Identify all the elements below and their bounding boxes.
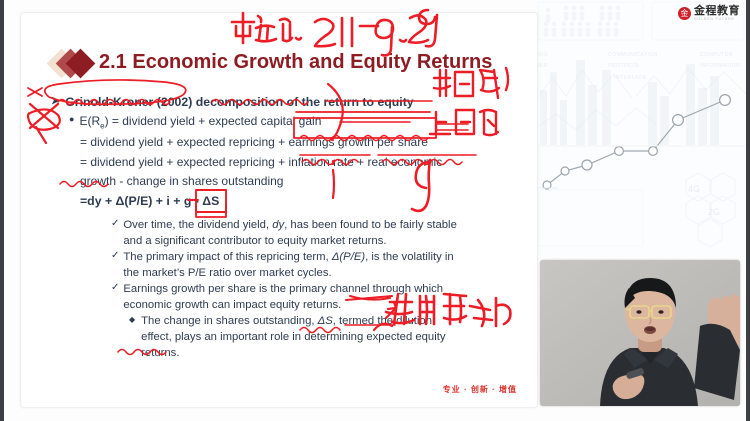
disc-bullet-icon: ●	[69, 112, 74, 127]
equation-bold: =dy + Δ(P/E) + i + g - ΔS	[80, 192, 521, 212]
bullet-level1-text: Grinold-Kroner (2002) decomposition of t…	[65, 95, 413, 109]
svg-text:2G: 2G	[708, 207, 720, 217]
check-item: ✓ The primary impact of this repricing t…	[111, 249, 521, 281]
page-title: 2.1 Economic Growth and Equity Returns	[99, 51, 492, 74]
logo-name: 金程教育	[694, 6, 740, 17]
instructor-video[interactable]	[540, 260, 740, 406]
logo-subtitle: GOLDEN FUTURE	[694, 18, 740, 21]
sub-diamond-item: ◆ The change in shares outstanding, ΔS, …	[129, 313, 521, 361]
svg-text:INTERFACE: INTERFACE	[614, 75, 647, 81]
brand-logo: 金 金程教育 GOLDEN FUTURE	[678, 6, 740, 21]
decorative-chart-panel: 4G 2G RESBER COMMUNICATION PROTOCOL INTE…	[536, 0, 746, 256]
check-item: ✓ Earnings growth per share is the prima…	[111, 281, 521, 313]
bullet-level1: ➤ Grinold-Kroner (2002) decomposition of…	[51, 95, 521, 109]
check-icon: ✓	[111, 217, 119, 231]
bullet-level2-text: E(Re) = dividend yield + expected capita…	[79, 112, 321, 133]
sub-diamond-text: The change in shares outstanding, ΔS, te…	[141, 313, 445, 361]
logo-mark-icon: 金	[678, 7, 691, 20]
svg-text:PROTOCOL: PROTOCOL	[608, 63, 640, 69]
diamond-bullet-icon: ◆	[129, 313, 135, 327]
bullet-level2: ● E(Re) = dividend yield + expected capi…	[69, 112, 521, 133]
svg-text:INFORMATION: INFORMATION	[700, 63, 740, 69]
check-item: ✓ Over time, the dividend yield, dy, has…	[111, 217, 521, 249]
slide-body: ➤ Grinold-Kroner (2002) decomposition of…	[51, 95, 521, 361]
window-right-edge	[746, 0, 750, 421]
screen-viewport: 4G 2G RESBER COMMUNICATION PROTOCOL INTE…	[0, 0, 750, 421]
arrow-bullet-icon: ➤	[51, 95, 60, 108]
equation-line-1: = dividend yield + expected repricing + …	[80, 133, 521, 152]
check-item-text: Earnings growth per share is the primary…	[123, 281, 443, 313]
check-icon: ✓	[111, 249, 119, 263]
svg-text:COMPUTER: COMPUTER	[700, 52, 733, 58]
svg-text:4G: 4G	[688, 184, 700, 194]
check-item-text: Over time, the dividend yield, dy, has b…	[123, 217, 456, 249]
check-icon: ✓	[111, 281, 119, 295]
svg-text:COMMUNICATION: COMMUNICATION	[608, 52, 658, 58]
decorative-chart-svg: 4G 2G RESBER COMMUNICATION PROTOCOL INTE…	[536, 0, 746, 256]
equation-line-3: growth - change in shares outstanding	[80, 172, 521, 191]
window-left-edge	[0, 0, 4, 421]
equation-line-2: = dividend yield + expected repricing + …	[80, 153, 521, 172]
check-item-text: The primary impact of this repricing ter…	[123, 249, 453, 281]
slide-slogan: 专业 · 创新 · 增值	[443, 384, 517, 395]
presentation-slide: 2.1 Economic Growth and Equity Returns ➤…	[20, 12, 538, 408]
